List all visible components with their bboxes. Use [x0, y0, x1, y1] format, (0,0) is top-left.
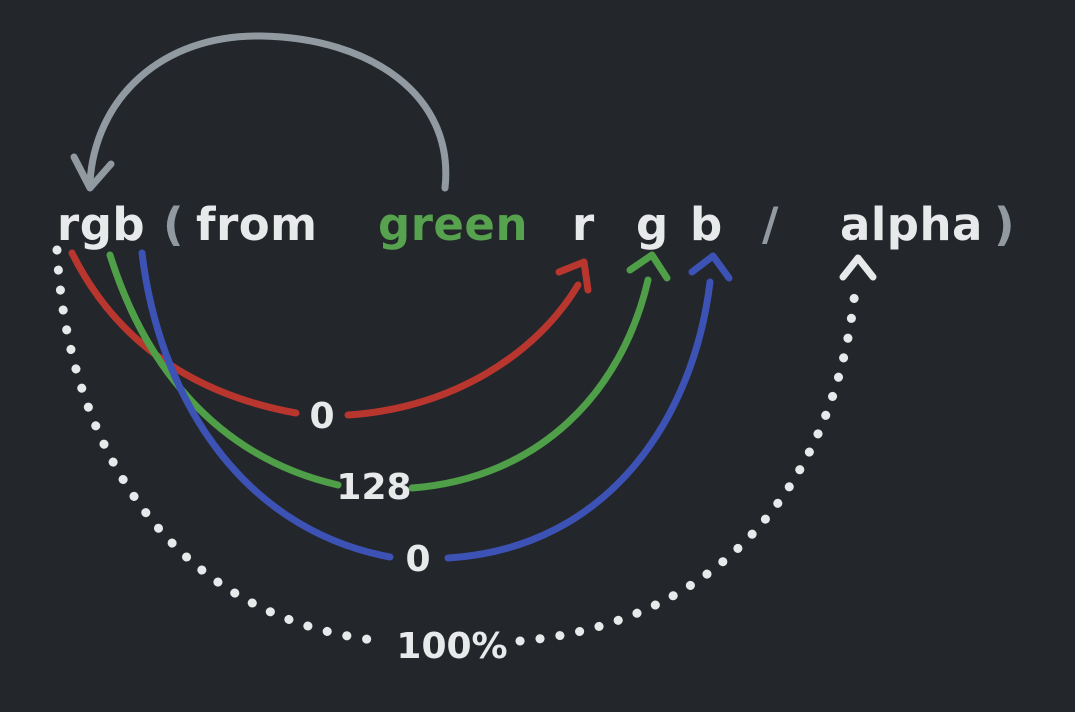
- value-label-green: 128: [336, 467, 411, 508]
- value-label-red: 0: [309, 396, 334, 437]
- value-label-blue: 0: [405, 539, 430, 580]
- value-label-alpha: 100%: [396, 626, 507, 667]
- diagram-canvas: rgb ( from green r g b / alpha ) 0 128 0…: [0, 0, 1075, 712]
- value-labels-layer: 0 128 0 100%: [0, 0, 1075, 712]
